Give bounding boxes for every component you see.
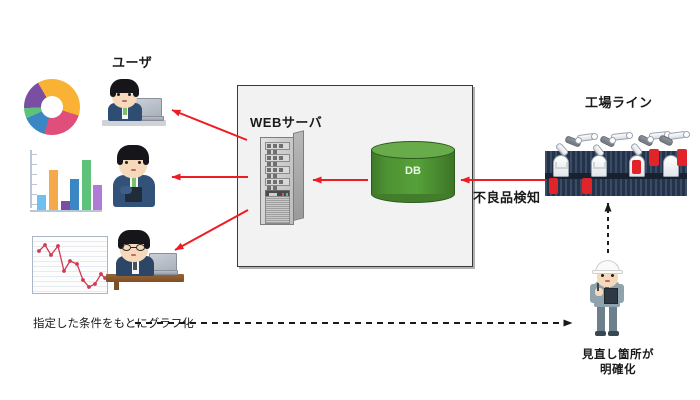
worker-caption-line1: 見直し箇所が	[563, 348, 673, 363]
user-avatar-3	[104, 228, 186, 290]
users-label: ユーザ	[112, 52, 152, 71]
clipboard-icon	[604, 288, 618, 304]
server-tower-icon	[260, 133, 304, 225]
bar-4	[70, 179, 79, 210]
diagram-canvas: WEBサーバ DB ユーザ	[0, 0, 700, 400]
database-cylinder-icon: DB	[371, 141, 455, 203]
bar-5	[82, 160, 91, 210]
factory-line-label: 工場ライン	[585, 92, 653, 111]
factory-line-icon	[545, 133, 687, 196]
product-item-1	[549, 178, 558, 194]
glasses-icon	[122, 244, 146, 251]
bar-3	[61, 201, 70, 210]
bar-1	[37, 195, 46, 210]
robot-arm-2	[589, 131, 631, 177]
db-label: DB	[371, 165, 455, 177]
graph-note-label: 指定した条件をもとにグラフ化	[33, 315, 194, 331]
worker-caption-line2: 明確化	[563, 363, 673, 378]
product-item-3	[649, 149, 659, 166]
worker-caption: 見直し箇所が 明確化	[563, 348, 673, 378]
line-chart	[32, 236, 108, 294]
defect-detection-label: 不良品検知	[473, 187, 541, 206]
user-avatar-1	[98, 76, 170, 130]
product-item-2	[582, 178, 592, 194]
web-server-label: WEBサーバ	[250, 112, 322, 131]
worker-avatar	[585, 258, 631, 336]
product-item-4	[677, 149, 687, 166]
bar-2	[49, 170, 58, 210]
arrow-server-to-user1	[172, 110, 247, 140]
bar-6	[93, 185, 102, 210]
user-avatar-2	[106, 142, 162, 208]
donut-chart	[24, 79, 80, 135]
bar-chart	[30, 150, 102, 212]
